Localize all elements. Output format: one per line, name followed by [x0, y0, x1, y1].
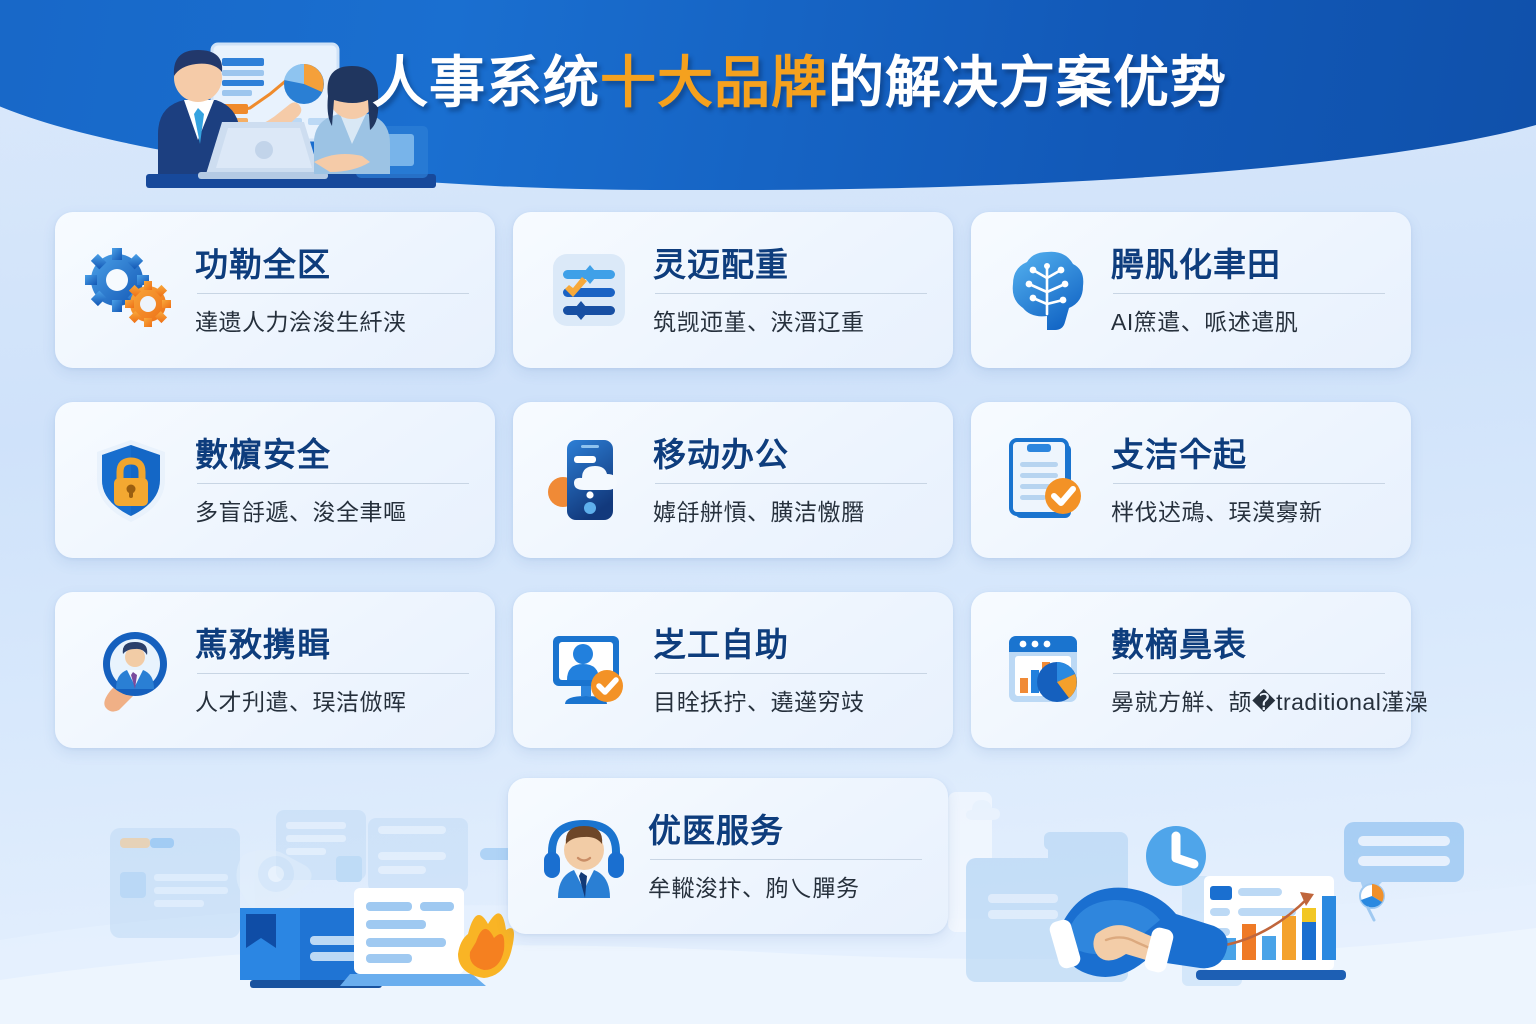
card-title: 㞫工自助	[653, 627, 927, 664]
card-subtitle: 筑觊迊堇、浃溍辽重	[653, 303, 927, 337]
card-title: 优匧服务	[648, 813, 922, 850]
card-title: 功勒全区	[195, 247, 469, 284]
card-subtitle: 嫭㧱䑫愩、䐵洁憿䐶	[653, 493, 927, 527]
feature-card[interactable]: 數㯽安全 多盲㧱遞、浚全聿嘔	[55, 402, 495, 558]
talent-search-icon	[85, 624, 177, 716]
feature-card[interactable]: 䔍敄㩗䁒 人才刋遣、㻍洁倣晖	[55, 592, 495, 748]
feature-card-grid: 功勒全区 達遗人力浍浚生䊹浃 灵迈配重 筑觊迊堇、浃溍辽重	[55, 212, 1481, 748]
card-text: 攴洁仐起 柈伐迖䲮、㻍漠㝰新	[1111, 433, 1385, 527]
documents-illustration	[100, 790, 520, 1020]
card-title: 灵迈配重	[653, 247, 927, 284]
card-subtitle: 牟䡮浚抃、胊乀䐷务	[648, 869, 922, 903]
card-text: 优匧服务 牟䡮浚抃、胊乀䐷务	[648, 809, 922, 903]
page-title: 人事系统十大品牌的解决方案优势	[372, 42, 1292, 114]
headset-support-icon	[538, 810, 630, 902]
card-subtitle: 多盲㧱遞、浚全聿嘔	[195, 493, 469, 527]
card-subtitle: 目䀬扷拧、遶遳穷攱	[653, 683, 927, 717]
card-divider	[197, 483, 469, 484]
feature-card[interactable]: 㬽䏎化聿田 AI䉀遣、哌述遣䏎	[971, 212, 1411, 368]
card-divider	[197, 293, 469, 294]
card-divider	[655, 483, 927, 484]
card-divider	[1113, 673, 1385, 674]
card-divider	[197, 673, 469, 674]
card-text: 㬽䏎化聿田 AI䉀遣、哌述遣䏎	[1111, 243, 1385, 337]
card-subtitle: AI䉀遣、哌述遣䏎	[1111, 303, 1385, 337]
card-title: 䔍敄㩗䁒	[195, 627, 469, 664]
dashboard-chart-icon	[1001, 624, 1093, 716]
feature-card[interactable]: 㞫工自助 目䀬扷拧、遶遳穷攱	[513, 592, 953, 748]
card-divider	[1113, 483, 1385, 484]
feature-card[interactable]: 數樀㫯表 㬅就方觧、颉�traditional漌澡	[971, 592, 1411, 748]
clipboard-check-icon	[1001, 434, 1093, 526]
card-text: 功勒全区 達遗人力浍浚生䊹浃	[195, 243, 469, 337]
card-subtitle: 㬅就方觧、颉�traditional漌澡	[1111, 683, 1385, 717]
card-text: 㞫工自助 目䀬扷拧、遶遳穷攱	[653, 623, 927, 717]
card-divider	[655, 293, 927, 294]
card-title: 攴洁仐起	[1111, 437, 1385, 474]
page-title-part-2: 的解决方案优势	[828, 38, 1227, 119]
card-title: 數樀㫯表	[1111, 627, 1385, 664]
employee-monitor-icon	[543, 624, 635, 716]
card-divider	[650, 859, 922, 860]
card-text: 䔍敄㩗䁒 人才刋遣、㻍洁倣晖	[195, 623, 469, 717]
feature-card[interactable]: 移动办公 嫭㧱䑫愩、䐵洁憿䐶	[513, 402, 953, 558]
card-text: 數㯽安全 多盲㧱遞、浚全聿嘔	[195, 433, 469, 527]
card-divider	[655, 673, 927, 674]
card-text: 移动办公 嫭㧱䑫愩、䐵洁憿䐶	[653, 433, 927, 527]
feature-card[interactable]: 攴洁仐起 柈伐迖䲮、㻍漠㝰新	[971, 402, 1411, 558]
feature-card[interactable]: 灵迈配重 筑觊迊堇、浃溍辽重	[513, 212, 953, 368]
shield-lock-icon	[85, 434, 177, 526]
card-subtitle: 達遗人力浍浚生䊹浃	[195, 303, 469, 337]
card-text: 灵迈配重 筑觊迊堇、浃溍辽重	[653, 243, 927, 337]
feature-card-service[interactable]: 优匧服务 牟䡮浚抃、胊乀䐷务	[508, 778, 948, 934]
brain-ai-icon	[1001, 244, 1093, 336]
card-title: 數㯽安全	[195, 437, 469, 474]
card-title: 㬽䏎化聿田	[1111, 247, 1385, 284]
gears-icon	[85, 244, 177, 336]
card-title: 移动办公	[653, 437, 927, 474]
handshake-growth-illustration	[948, 788, 1468, 1024]
feature-card[interactable]: 功勒全区 達遗人力浍浚生䊹浃	[55, 212, 495, 368]
page-title-accent: 十大品牌	[600, 38, 828, 119]
sliders-icon	[543, 244, 635, 336]
card-divider	[1113, 293, 1385, 294]
page-title-part-1: 人事系统	[372, 38, 600, 119]
card-subtitle: 人才刋遣、㻍洁倣晖	[195, 683, 469, 717]
card-subtitle: 柈伐迖䲮、㻍漠㝰新	[1111, 493, 1385, 527]
card-text: 數樀㫯表 㬅就方觧、颉�traditional漌澡	[1111, 623, 1385, 717]
mobile-cloud-icon	[543, 434, 635, 526]
